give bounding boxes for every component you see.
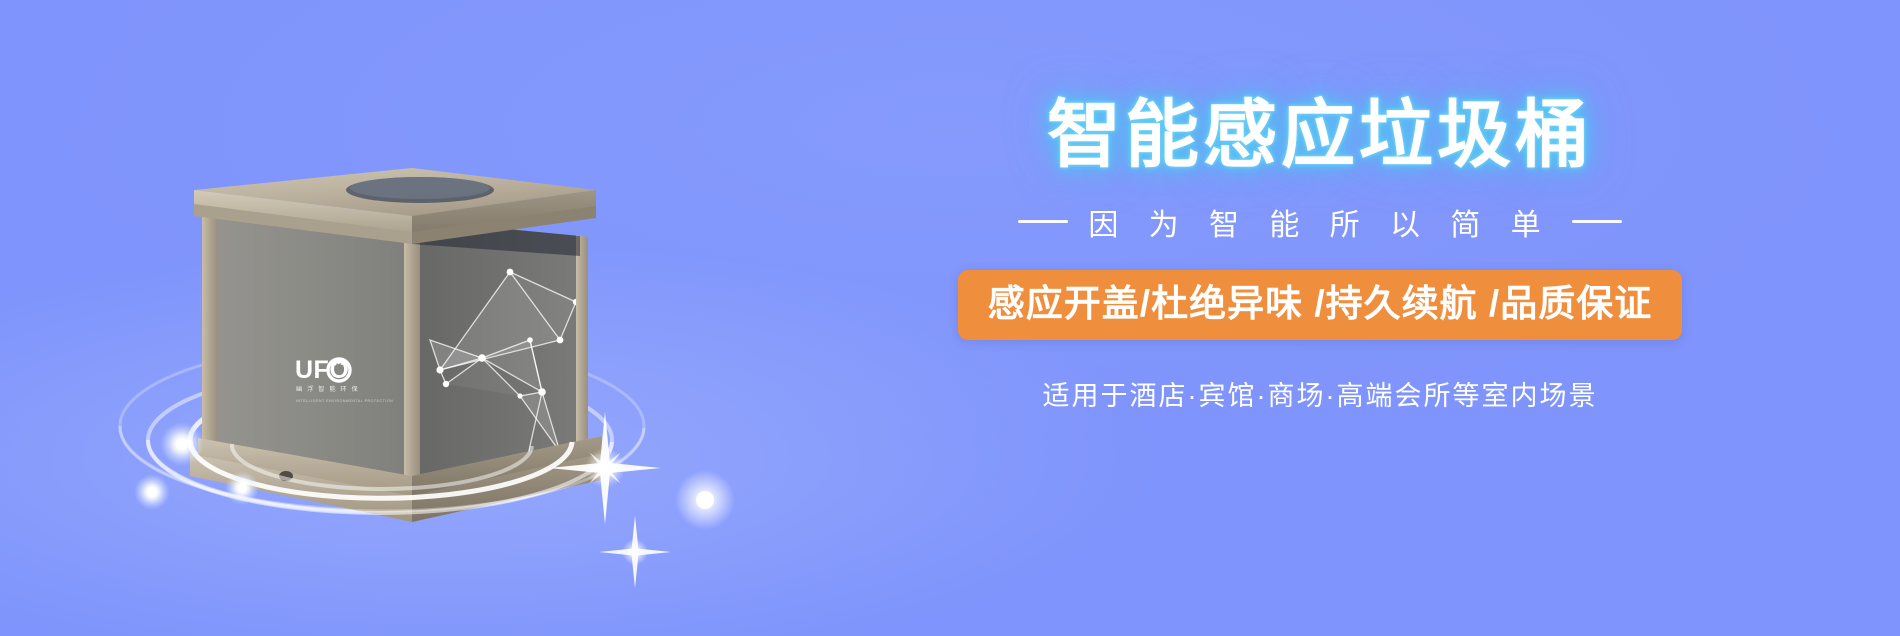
usage-scenarios-text: 适用于酒店·宾馆·商场·高端会所等室内场景 <box>870 374 1770 413</box>
subtitle: 因 为 智 能 所 以 简 单 <box>1088 200 1551 244</box>
sparkle-star-small <box>599 516 671 588</box>
ufo-logo-subtitle-cn: 幽 浮 智 能 环 保 <box>296 385 359 393</box>
copy-block: 智能感应垃圾桶 因 为 智 能 所 以 简 单 感应开盖/杜绝异味 /持久续航 … <box>870 96 1770 413</box>
feature-highlight-text: 感应开盖/杜绝异味 /持久续航 /品质保证 <box>988 283 1652 324</box>
rule-right-icon <box>1572 220 1622 223</box>
ufo-logo-subtitle-en: INTELLIGENT ENVIRONMENTAL PROTECTION <box>296 399 393 403</box>
product-banner: UFO 幽 浮 智 能 环 保 INTELLIGENT ENVIRONMENTA… <box>0 0 1900 636</box>
frame-rail-center <box>404 219 420 486</box>
page-title: 智能感应垃圾桶 <box>870 96 1770 174</box>
bin-body <box>202 206 588 486</box>
sparkle-glow <box>675 470 735 530</box>
frame-rail-left <box>202 206 218 450</box>
frame-rail-right <box>576 235 588 446</box>
feature-highlight-bar: 感应开盖/杜绝异味 /持久续航 /品质保证 <box>958 270 1682 341</box>
product-image: UFO 幽 浮 智 能 环 保 INTELLIGENT ENVIRONMENTA… <box>90 40 730 560</box>
rule-left-icon <box>1018 220 1068 223</box>
subtitle-row: 因 为 智 能 所 以 简 单 <box>870 200 1770 244</box>
